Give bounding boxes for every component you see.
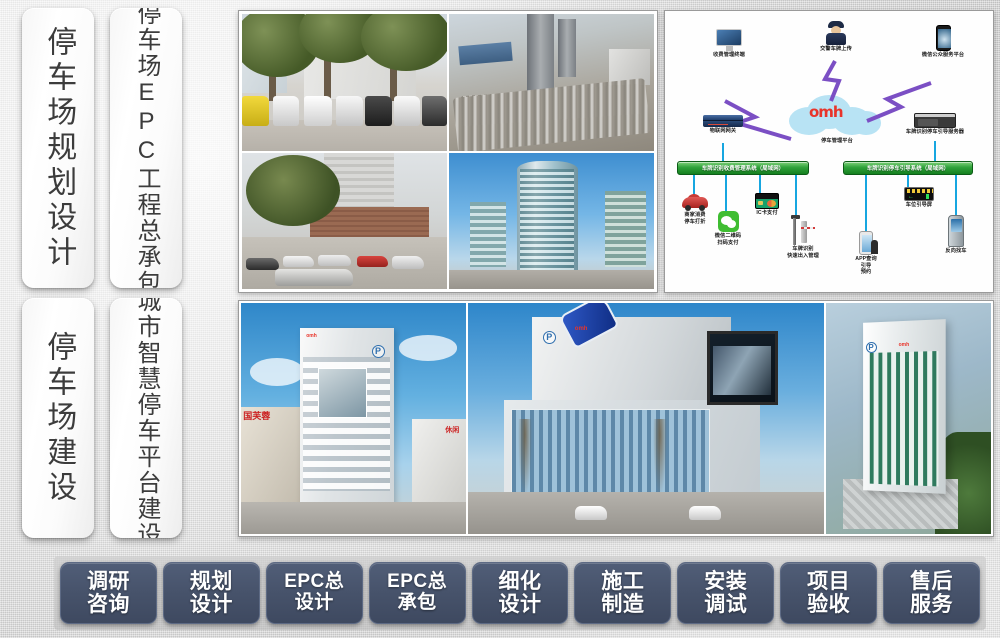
service-card-label: 停车场建设 (42, 331, 74, 506)
step-installation[interactable]: 安装 调试 (677, 562, 774, 624)
step-epc-contracting[interactable]: EPC总 承包 (369, 562, 466, 624)
plate-gate-access-node[interactable]: 车牌识别 快速出入管理 (777, 215, 829, 259)
step-planning-design[interactable]: 规划 设计 (163, 562, 260, 624)
render-parking-garage: P omh (468, 303, 824, 534)
lightning-connector-icon (819, 59, 851, 103)
server-icon (914, 113, 956, 128)
cloud-platform-label: 停车管理平台 (797, 138, 877, 145)
photo-aerial-parking (449, 14, 654, 151)
tree-shape (653, 419, 667, 498)
led-billboard-shape (707, 331, 778, 405)
road-shape (241, 502, 466, 534)
omh-logo: omh (809, 103, 843, 121)
parking-guidance-screen-node[interactable]: ← 车位引导屏 (891, 187, 947, 209)
service-card-smart-platform[interactable]: 城市智慧停车平台建设 (110, 298, 182, 538)
wechat-icon (718, 211, 739, 232)
traffic-police-node[interactable]: 交警车牌上传 (803, 21, 869, 53)
render-sign-left: 国芙蓉 (243, 409, 270, 422)
node-label: 反向找车 (933, 248, 979, 255)
connector-wire (865, 175, 867, 233)
charge-management-terminal-node[interactable]: 收费管理终端 (693, 29, 765, 59)
service-card-epc-contracting[interactable]: 停车场EPC工程总承包 (110, 8, 182, 288)
connector-wire (759, 175, 761, 195)
node-label: 微信公众服务平台 (905, 52, 981, 59)
connector-wire (795, 175, 797, 217)
glass-facade-shape (511, 409, 710, 497)
step-acceptance[interactable]: 项目 验收 (780, 562, 877, 624)
node-label: 车牌识别停车引导服务器 (891, 129, 979, 136)
white-car-graphic (689, 506, 721, 520)
billboard-shape (318, 368, 368, 419)
parking-p-icon: P (372, 345, 385, 358)
main-tower-shape (517, 161, 579, 270)
service-card-parking-planning[interactable]: 停车场规划设计 (22, 8, 94, 288)
white-car-graphic (575, 506, 607, 520)
ic-card-icon (755, 193, 779, 209)
photo-collage-panel (238, 10, 658, 293)
gateway-icon (703, 115, 743, 127)
step-research[interactable]: 调研 咨询 (60, 562, 157, 624)
connector-wire (955, 175, 957, 217)
node-label: 微信二维码 扫码支付 (701, 233, 755, 246)
red-car-icon (682, 193, 708, 211)
led-sign-icon: ← (904, 187, 934, 201)
parking-p-icon: P (866, 342, 877, 353)
road-shape (468, 492, 824, 534)
service-card-column: 停车场规划设计 停车场EPC工程总承包 停车场建设 城市智慧停车平台建设 (0, 0, 200, 548)
service-card-label: 停车场EPC工程总承包 (133, 8, 159, 288)
blue-roof-shape (459, 42, 514, 66)
render-sign-right: 休闲 (445, 425, 459, 435)
connector-wire (934, 141, 936, 161)
photo-lot-brick-building (242, 153, 447, 290)
parking-p-icon: P (543, 331, 556, 344)
step-after-sales[interactable]: 售后 服务 (883, 562, 980, 624)
omh-logo: omh (575, 326, 588, 332)
service-card-label: 城市智慧停车平台建设 (133, 298, 159, 538)
ic-card-pay-node[interactable]: IC卡支付 (747, 193, 787, 217)
photo-street-parking (242, 14, 447, 151)
wechat-public-service-node[interactable]: 微信公众服务平台 (905, 25, 981, 59)
monitor-icon (716, 29, 742, 51)
connector-wire (722, 143, 724, 161)
building-shape (605, 191, 646, 267)
connector-wire (693, 175, 695, 195)
system-bar-label: 车牌识别停车引导系统（局域网） (867, 164, 949, 172)
tree-canopy (246, 155, 340, 226)
photo-grid (242, 14, 654, 289)
omh-logo: omh (306, 333, 317, 339)
photo-glass-tower (449, 153, 654, 290)
charge-system-bar[interactable]: 车牌识别收费管理系统（局域网） (677, 161, 809, 175)
barrier-gate-icon (791, 215, 815, 245)
plate-guidance-server-node[interactable]: 车牌识别停车引导服务器 (891, 113, 979, 136)
smartphone-icon (936, 25, 951, 51)
node-label: 物联网网关 (685, 128, 761, 135)
cloud-platform-label-wrap: 停车管理平台 (797, 137, 877, 145)
building-shape (527, 14, 554, 93)
step-epc-design[interactable]: EPC总 设计 (266, 562, 363, 624)
building-shape (558, 19, 576, 76)
render-aerial-tower: P omh (826, 303, 991, 534)
building-shape (470, 202, 507, 268)
ground-shape (449, 270, 654, 289)
node-label: APP查询 引导 预约 (843, 256, 889, 276)
service-card-parking-construction[interactable]: 停车场建设 (22, 298, 94, 538)
node-label: 交警车牌上传 (803, 46, 869, 53)
step-detailed-design[interactable]: 细化 设计 (472, 562, 569, 624)
parked-car-row (242, 96, 447, 126)
system-bar-label: 车牌识别收费管理系统（局域网） (702, 164, 784, 172)
connector-wire (725, 175, 727, 211)
tree-shape (518, 419, 532, 498)
guidance-system-bar[interactable]: 车牌识别停车引导系统（局域网） (843, 161, 973, 175)
node-label: 收费管理终端 (693, 52, 765, 59)
process-step-bar: 调研 咨询 规划 设计 EPC总 设计 EPC总 承包 细化 设计 施工 制造 … (54, 556, 986, 630)
police-officer-icon (826, 21, 846, 45)
render-parking-tower: P omh 国芙蓉 休闲 (241, 303, 466, 534)
node-label: 车位引导屏 (891, 202, 947, 209)
parking-row (453, 78, 650, 151)
reverse-car-finding-node[interactable]: 反向找车 (933, 215, 979, 255)
kiosk-icon (948, 215, 964, 247)
system-architecture-diagram: omh 停车管理平台 收费管理终端 交警车牌上传 (664, 10, 994, 293)
app-phone-icon (859, 231, 873, 255)
iot-gateway-node[interactable]: 物联网网关 (685, 115, 761, 135)
omh-logo: omh (899, 342, 910, 348)
architectural-render-panel: P omh 国芙蓉 休闲 P omh P omh (238, 300, 994, 537)
step-construction[interactable]: 施工 制造 (574, 562, 671, 624)
node-label: 车牌识别 快速出入管理 (777, 246, 829, 259)
service-card-label: 停车场规划设计 (42, 26, 74, 271)
app-query-guidance-node[interactable]: APP查询 引导 预约 (843, 231, 889, 276)
